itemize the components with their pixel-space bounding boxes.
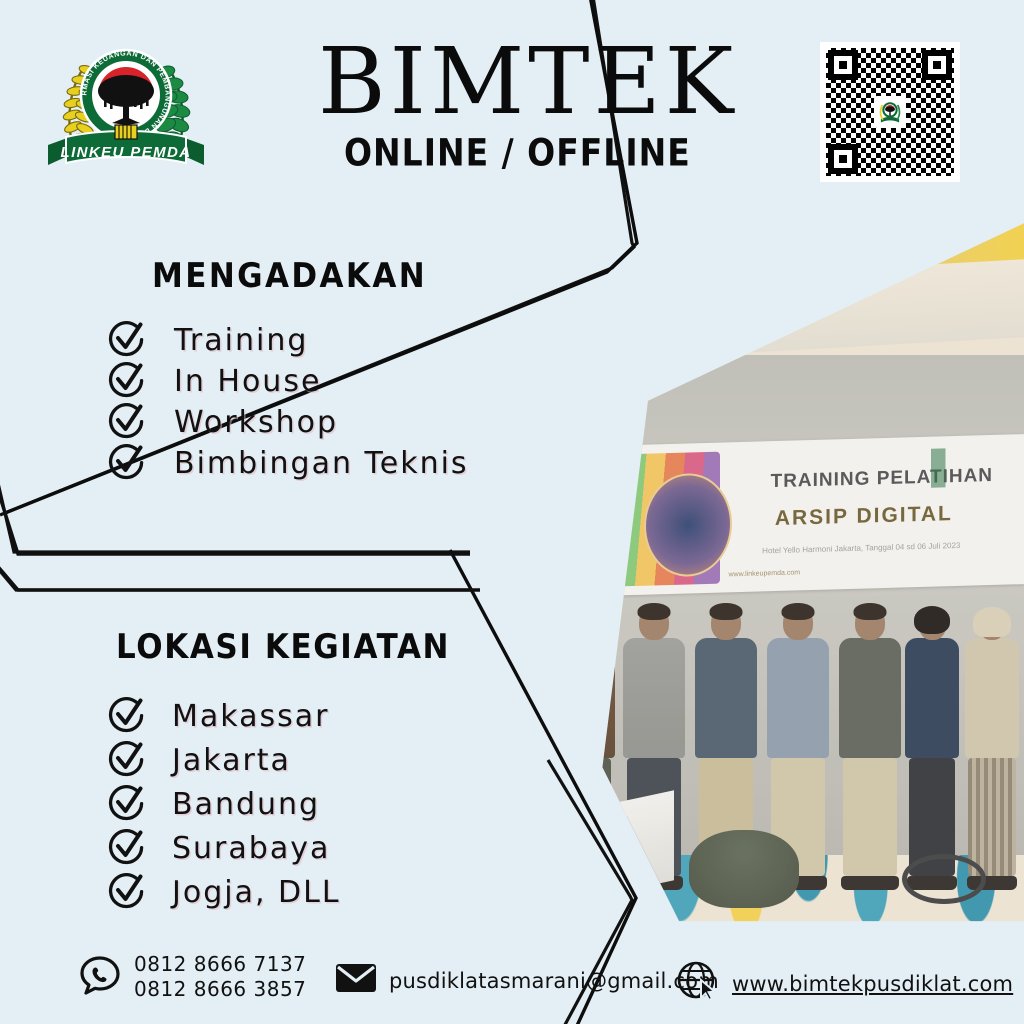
qr-matrix [826, 48, 954, 176]
list-item: Makassar [106, 694, 341, 738]
list-item-label: Workshop [174, 405, 338, 440]
list-item: Surabaya [106, 826, 341, 870]
qr-finder-bottom-left [828, 144, 858, 174]
list-item: Jakarta [106, 738, 341, 782]
list-item-label: Jogja, DLL [172, 875, 341, 910]
phone-number-1: 0812 8666 7137 [134, 952, 306, 977]
section-title-lokasi: LOKASI KEGIATAN [116, 627, 450, 667]
group-photo: TRAINING PELATIHAN ARSIP DIGITAL Hotel Y… [545, 190, 1024, 930]
list-item-label: Bandung [172, 787, 320, 822]
footer-phone[interactable]: 0812 8666 7137 0812 8666 3857 [78, 952, 306, 1002]
footer-email[interactable]: pusdiklatasmarani@gmail.com [335, 962, 719, 999]
check-icon [106, 784, 150, 825]
list-item-label: Jakarta [172, 743, 291, 778]
email-address: pusdiklatasmarani@gmail.com [389, 969, 719, 993]
page-title: BIMTEK [318, 36, 737, 128]
logo-svg: LEMBAGA INFORMASI KEUANGAN DAN PEMBANGUN… [40, 33, 212, 185]
footer-website[interactable]: www.bimtekpusdiklat.com [676, 960, 1013, 1007]
list-item: Training [106, 320, 469, 361]
chevron-lower-a [470, 552, 630, 820]
logo-book [115, 125, 137, 139]
check-icon [106, 361, 150, 402]
logo-ribbon-text: LINKEU PEMDA [61, 144, 192, 161]
photo-overlay [545, 190, 1024, 930]
list-lokasi: MakassarJakartaBandungSurabayaJogja, DLL [106, 694, 341, 914]
qr-code[interactable] [820, 42, 960, 182]
check-icon [106, 872, 150, 913]
website-url[interactable]: www.bimtekpusdiklat.com [732, 972, 1013, 996]
globe-cursor-icon [676, 960, 720, 1007]
list-item-label: Surabaya [172, 831, 330, 866]
band-line-lower [0, 568, 470, 588]
list-item: In House [106, 361, 469, 402]
check-icon [106, 740, 150, 781]
list-item: Bimbingan Teknis [106, 443, 469, 484]
list-mengadakan: TrainingIn HouseWorkshopBimbingan Teknis [106, 320, 469, 484]
list-item-label: Makassar [172, 699, 329, 734]
qr-finder-top-left [828, 50, 858, 80]
list-item-label: Training [174, 323, 308, 358]
check-icon [106, 696, 150, 737]
band-line-lower2 [0, 565, 470, 590]
list-item: Jogja, DLL [106, 870, 341, 914]
list-item: Bandung [106, 782, 341, 826]
envelope-icon [335, 962, 377, 999]
phone-numbers: 0812 8666 7137 0812 8666 3857 [134, 952, 306, 1002]
page-subtitle: ONLINE / OFFLINE [344, 131, 691, 175]
qr-logo-svg [876, 98, 904, 126]
check-icon [106, 443, 150, 484]
chevron-lower-b [470, 590, 556, 766]
list-item-label: Bimbingan Teknis [174, 446, 469, 481]
qr-finder-top-right [922, 50, 952, 80]
flyer-canvas: TRAINING PELATIHAN ARSIP DIGITAL Hotel Y… [0, 0, 1024, 1024]
check-icon [106, 828, 150, 869]
section-title-mengadakan: MENGADAKAN [152, 256, 427, 296]
organization-logo: LEMBAGA INFORMASI KEUANGAN DAN PEMBANGUN… [40, 33, 212, 185]
qr-center-logo [874, 96, 906, 128]
list-item-label: In House [174, 364, 321, 399]
list-item: Workshop [106, 402, 469, 443]
check-icon [106, 320, 150, 361]
phone-number-2: 0812 8666 3857 [134, 977, 306, 1002]
whatsapp-phone-icon [78, 953, 122, 1002]
check-icon [106, 402, 150, 443]
